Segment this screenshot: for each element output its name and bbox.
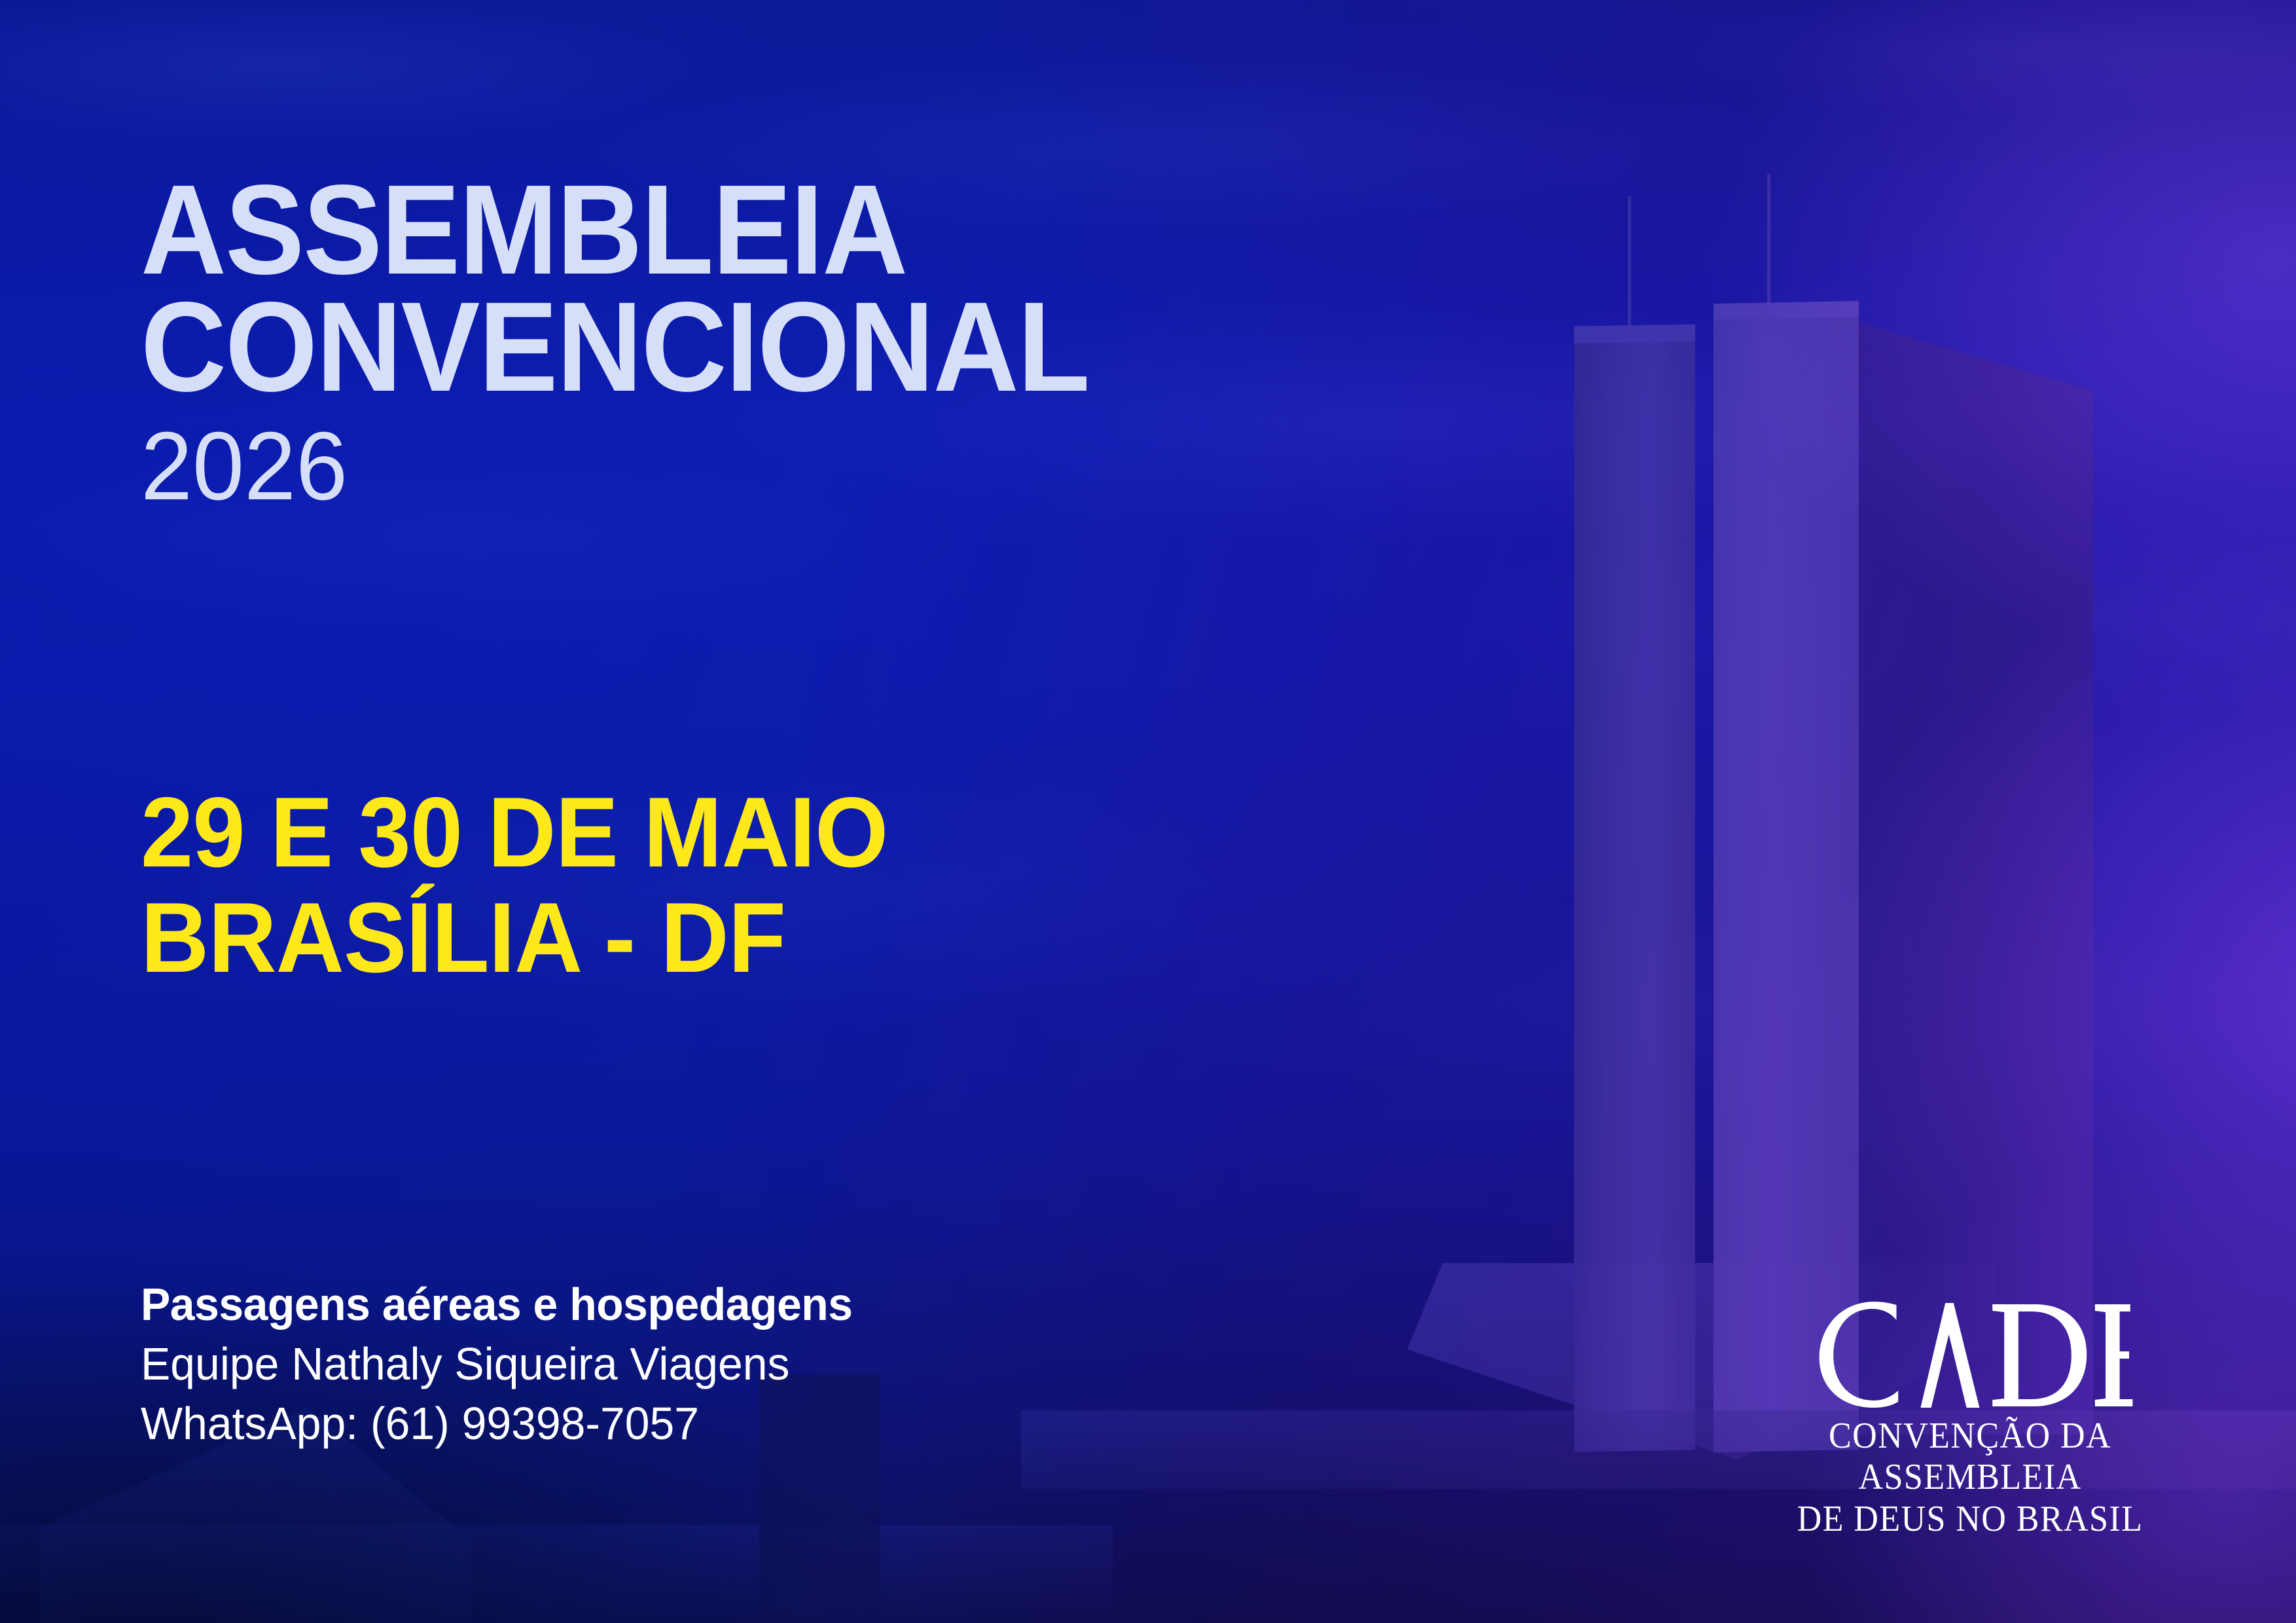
headline-line-2: CONVENCIONAL: [141, 289, 1089, 406]
cadb-wordmark-icon: [1787, 1293, 2153, 1416]
contact-heading: Passagens aéreas e hospedagens: [141, 1275, 853, 1334]
headline-block: ASSEMBLEIA CONVENCIONAL 2026: [141, 171, 1160, 518]
event-details-block: 29 E 30 DE MAIO BRASÍLIA - DF: [141, 780, 927, 991]
cadb-subtitle-line-2: DE DEUS NO BRASIL: [1782, 1499, 2159, 1540]
headline-line-1: ASSEMBLEIA: [141, 171, 1089, 289]
contact-block: Passagens aéreas e hospedagens Equipe Na…: [141, 1275, 874, 1454]
contact-agency: Equipe Nathaly Siqueira Viagens: [141, 1334, 853, 1394]
event-dates: 29 E 30 DE MAIO: [141, 780, 888, 885]
poster-canvas: ASSEMBLEIA CONVENCIONAL 2026 29 E 30 DE …: [0, 0, 2296, 1623]
cadb-subtitle-line-1: CONVENÇÃO DA ASSEMBLEIA: [1782, 1416, 2159, 1499]
headline-year: 2026: [141, 416, 1119, 518]
cadb-logo: CONVENÇÃO DA ASSEMBLEIA DE DEUS NO BRASI…: [1767, 1293, 2173, 1540]
contact-whatsapp: WhatsApp: (61) 99398-7057: [141, 1394, 853, 1454]
event-location: BRASÍLIA - DF: [141, 885, 888, 991]
